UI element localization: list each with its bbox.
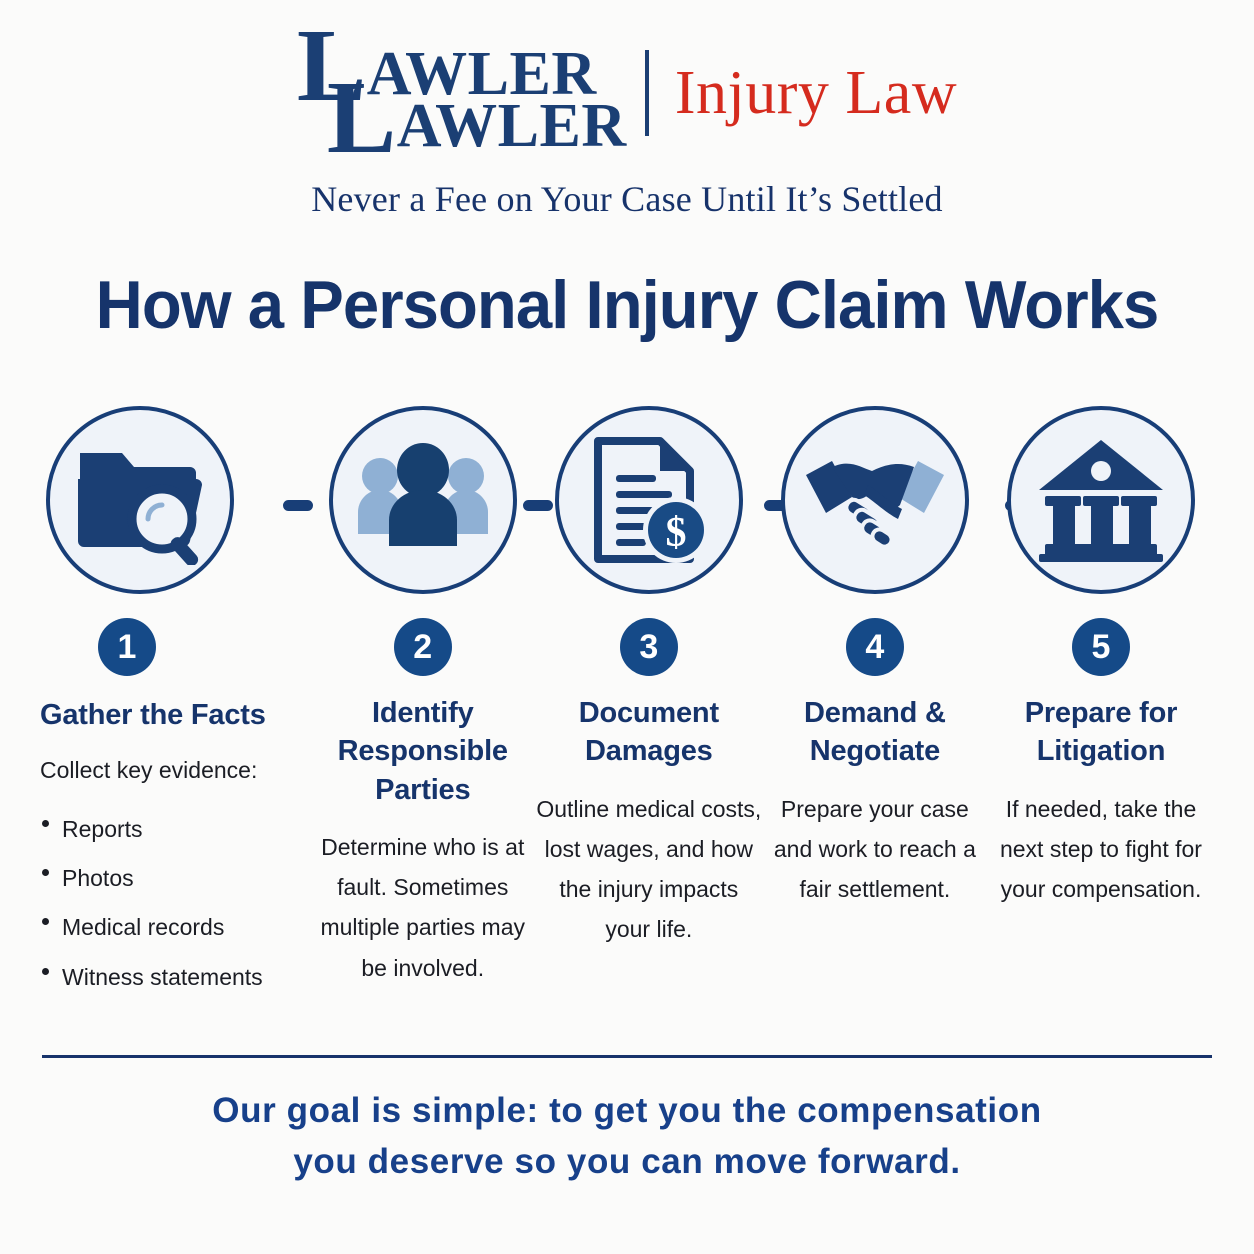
step-title: Document Damages	[536, 694, 762, 771]
list-item: Photos	[62, 854, 263, 903]
footer-line-2: you deserve so you can move forward.	[0, 1137, 1254, 1188]
step-body: Determine who is at fault. Sometimes mul…	[310, 827, 536, 988]
wordmark-text-2: AWLER	[397, 92, 627, 160]
step-2: 2 Identify Responsible Parties Determine…	[310, 406, 536, 988]
step-1: 1 Gather the Facts Collect key evidence:…	[40, 406, 310, 1002]
document-dollar-icon: $	[555, 406, 743, 594]
page-title: How a Personal Injury Claim Works	[25, 266, 1229, 344]
footer-message: Our goal is simple: to get you the compe…	[0, 1086, 1254, 1188]
list-item: Reports	[62, 805, 263, 854]
step-5: 5 Prepare for Litigation If needed, take…	[988, 406, 1214, 909]
step-number-badge: 4	[846, 618, 904, 676]
wordmark-line-2: LAWLER	[327, 76, 627, 159]
step-4: 4 Demand & Negotiate Prepare your case a…	[762, 406, 988, 909]
logo-divider	[645, 50, 649, 136]
svg-text:$: $	[665, 510, 686, 556]
evidence-bullet-list: Reports Photos Medical records Witness s…	[40, 805, 263, 1003]
logo-secondary-text: Injury Law	[675, 58, 957, 129]
courthouse-icon	[1007, 406, 1195, 594]
step-body: Prepare your case and work to reach a fa…	[762, 789, 988, 910]
step-number-badge: 3	[620, 618, 678, 676]
step-title: Demand & Negotiate	[762, 694, 988, 771]
people-group-icon	[329, 406, 517, 594]
footer-line-1: Our goal is simple: to get you the compe…	[0, 1086, 1254, 1137]
step-number-badge: 1	[98, 618, 156, 676]
brand-logo: LAWLER LAWLER Injury Law	[0, 14, 1254, 164]
step-title: Prepare for Litigation	[988, 694, 1214, 771]
folder-search-icon	[46, 406, 234, 594]
list-item: Medical records	[62, 903, 263, 952]
brand-tagline: Never a Fee on Your Case Until It’s Sett…	[0, 178, 1254, 220]
step-body: Outline medical costs, lost wages, and h…	[536, 789, 762, 950]
step-number-badge: 2	[394, 618, 452, 676]
step-body: If needed, take the next step to fight f…	[988, 789, 1214, 910]
handshake-icon	[781, 406, 969, 594]
footer-divider	[42, 1055, 1212, 1058]
steps-row: 1 Gather the Facts Collect key evidence:…	[40, 406, 1214, 966]
step-3: $ 3 Document Damages Outline medical cos…	[536, 406, 762, 950]
step-title: Identify Responsible Parties	[310, 694, 536, 809]
list-item: Witness statements	[62, 953, 263, 1002]
lawler-lawler-wordmark: LAWLER LAWLER	[297, 14, 627, 164]
wordmark-initial-2: L	[327, 60, 397, 175]
step-number-badge: 5	[1072, 618, 1130, 676]
infographic-page: LAWLER LAWLER Injury Law Never a Fee on …	[0, 0, 1254, 1254]
step-title: Gather the Facts	[40, 696, 266, 734]
step-body: Collect key evidence:	[40, 750, 257, 790]
